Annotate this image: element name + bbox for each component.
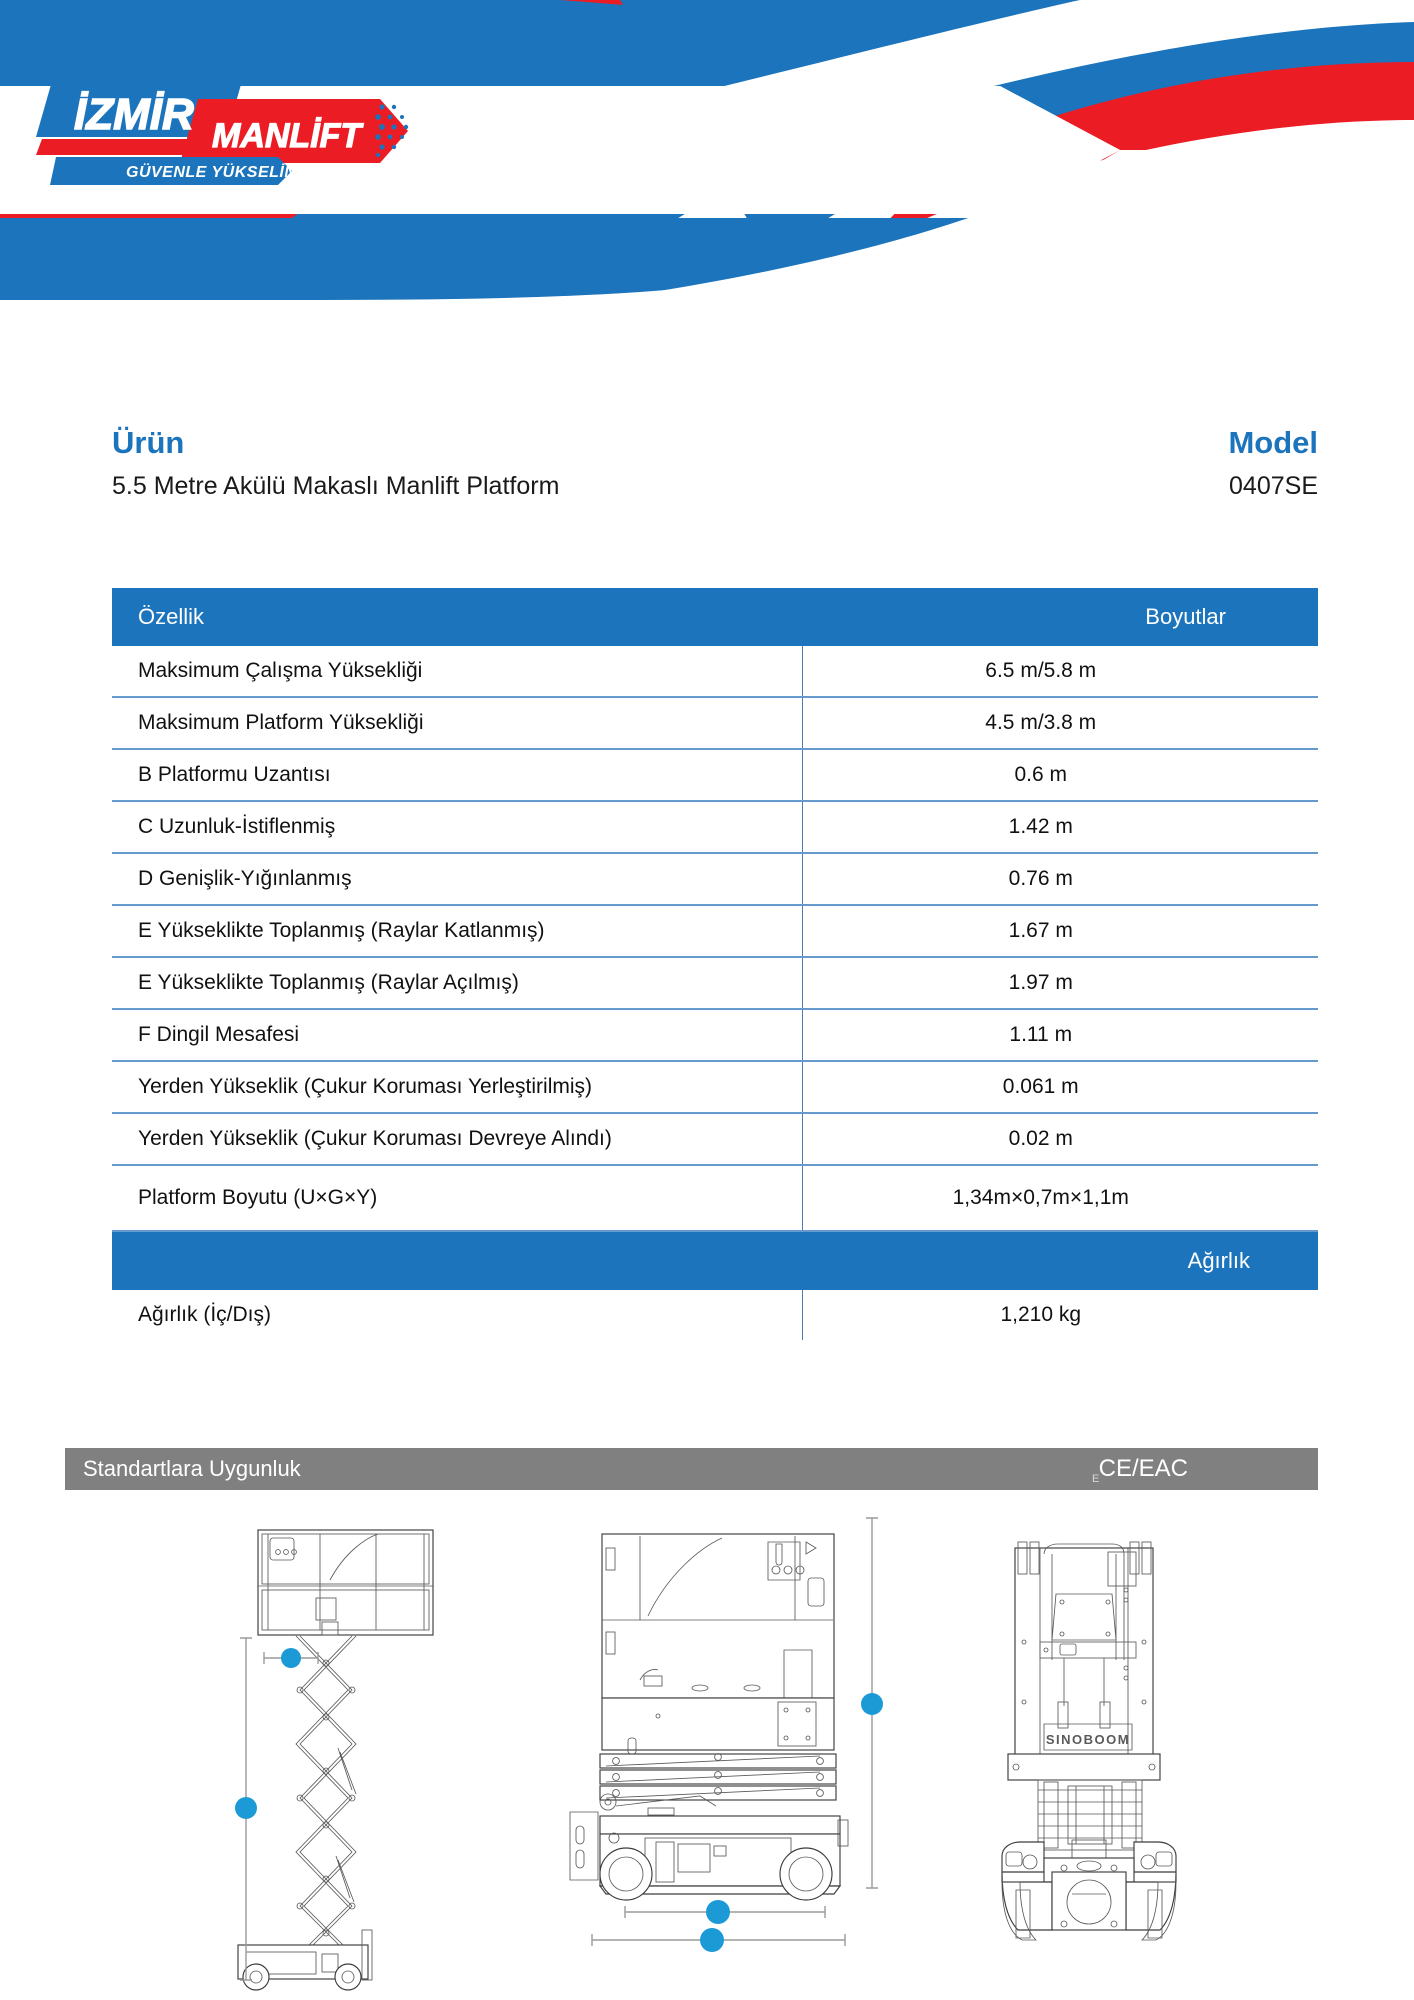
table-row: Platform Boyutu (U×G×Y) 1,34m×0,7m×1,1m — [112, 1165, 1318, 1231]
right-chassis — [1002, 1842, 1176, 1940]
left-chassis — [238, 1930, 372, 1990]
row-value: 0.6 m — [802, 749, 1318, 801]
drawing-center-stowed-side-view — [570, 1518, 883, 1952]
product-info: Ürün 5.5 Metre Akülü Makaslı Manlift Pla… — [112, 425, 559, 501]
table-row: Maksimum Çalışma Yüksekliği 6.5 m/5.8 m — [112, 646, 1318, 697]
table-body: Maksimum Çalışma Yüksekliği 6.5 m/5.8 m … — [112, 646, 1318, 1340]
center-chassis — [570, 1812, 848, 1900]
right-deck — [1008, 1754, 1160, 1780]
row-label: C Uzunluk-İstiflenmiş — [112, 801, 802, 853]
center-scissor-stack — [600, 1754, 836, 1815]
row-value: 1.97 m — [802, 957, 1318, 1009]
right-scissor-stack — [1038, 1780, 1142, 1862]
row-value: 1.67 m — [802, 905, 1318, 957]
row-label: E Yükseklikte Toplanmış (Raylar Açılmış) — [112, 957, 802, 1009]
center-platform-deck — [602, 1698, 834, 1754]
table-row: Yerden Yükseklik (Çukur Koruması Yerleşt… — [112, 1061, 1318, 1113]
row-label: D Genişlik-Yığınlanmış — [112, 853, 802, 905]
table-row: Yerden Yükseklik (Çukur Koruması Devreye… — [112, 1113, 1318, 1165]
row-value: 4.5 m/3.8 m — [802, 697, 1318, 749]
row-value: 0.76 m — [802, 853, 1318, 905]
left-platform-basket — [258, 1530, 433, 1635]
weight-header-row: Ağırlık — [112, 1231, 1318, 1290]
table-header-row: Özellik Boyutlar — [112, 588, 1318, 646]
left-scissor-arms — [296, 1636, 356, 1958]
row-value: 0.02 m — [802, 1113, 1318, 1165]
drawing-left-extended-side-view — [235, 1530, 433, 1990]
table-row: B Platformu Uzantısı 0.6 m — [112, 749, 1318, 801]
weight-row-value: 1,210 kg — [802, 1290, 1318, 1340]
dimension-dot — [235, 1797, 257, 1819]
row-value: 1.11 m — [802, 1009, 1318, 1061]
logo-tagline-text: GÜVENLE YÜKSELİN — [126, 162, 296, 181]
title-block: Ürün 5.5 Metre Akülü Makaslı Manlift Pla… — [112, 425, 1318, 501]
model-info: Model 0407SE — [1228, 425, 1318, 501]
right-guardrail-frame: SINOBOOM — [1015, 1542, 1153, 1778]
dimension-dot — [706, 1900, 730, 1924]
row-label: Maksimum Platform Yüksekliği — [112, 697, 802, 749]
center-dimension-lines — [592, 1900, 845, 1952]
logo-red-stripe — [36, 139, 224, 155]
weight-header-value: Ağırlık — [802, 1231, 1318, 1290]
center-guardrail — [602, 1534, 834, 1698]
row-label: Maksimum Çalışma Yüksekliği — [112, 646, 802, 697]
row-value: 6.5 m/5.8 m — [802, 646, 1318, 697]
row-label: Yerden Yükseklik (Çukur Koruması Yerleşt… — [112, 1061, 802, 1113]
standards-value: CE/EAC — [1099, 1455, 1318, 1483]
drawing-right-front-view: SINOBOOM — [1002, 1542, 1176, 1940]
standards-superscript: E — [1092, 1473, 1099, 1485]
dimension-dot — [281, 1648, 301, 1668]
dimension-dot — [861, 1693, 883, 1715]
table-row: Maksimum Platform Yüksekliği 4.5 m/3.8 m — [112, 697, 1318, 749]
standards-label: Standartlara Uygunluk — [65, 1456, 301, 1482]
weight-header-label — [112, 1231, 802, 1290]
logo-manlift-text: MANLİFT — [212, 117, 364, 155]
product-name: 5.5 Metre Akülü Makaslı Manlift Platform — [112, 471, 559, 501]
specification-table: Özellik Boyutlar Maksimum Çalışma Yüksek… — [112, 588, 1318, 1340]
left-dimension-lines — [235, 1638, 318, 1980]
weight-row: Ağırlık (İç/Dış) 1,210 kg — [112, 1290, 1318, 1340]
standards-row: Standartlara Uygunluk CE/EAC — [65, 1448, 1318, 1490]
dimension-dot — [700, 1928, 724, 1952]
technical-drawings: SINOBOOM — [0, 1490, 1414, 2000]
row-label: B Platformu Uzantısı — [112, 749, 802, 801]
logo-izmir-text: İZMİR — [74, 90, 194, 139]
machine-brand-mark: SINOBOOM — [1046, 1732, 1130, 1747]
table-row: E Yükseklikte Toplanmış (Raylar Açılmış)… — [112, 957, 1318, 1009]
row-value: 1.42 m — [802, 801, 1318, 853]
row-label: E Yükseklikte Toplanmış (Raylar Katlanmı… — [112, 905, 802, 957]
weight-row-label: Ağırlık (İç/Dış) — [112, 1290, 802, 1340]
row-label: F Dingil Mesafesi — [112, 1009, 802, 1061]
table-row: F Dingil Mesafesi 1.11 m — [112, 1009, 1318, 1061]
table-row: D Genişlik-Yığınlanmış 0.76 m — [112, 853, 1318, 905]
model-kicker: Model — [1228, 425, 1318, 461]
table-row: E Yükseklikte Toplanmış (Raylar Katlanmı… — [112, 905, 1318, 957]
product-kicker: Ürün — [112, 425, 559, 461]
row-value: 0.061 m — [802, 1061, 1318, 1113]
row-label: Yerden Yükseklik (Çukur Koruması Devreye… — [112, 1113, 802, 1165]
column-header-feature: Özellik — [112, 588, 802, 646]
center-right-dimension — [861, 1518, 883, 1888]
model-code: 0407SE — [1228, 471, 1318, 501]
row-label: Platform Boyutu (U×G×Y) — [112, 1165, 802, 1231]
table-row: C Uzunluk-İstiflenmiş 1.42 m — [112, 801, 1318, 853]
company-logo: İZMİR MANLİFT GÜVENLE YÜKSELİN — [30, 75, 450, 190]
column-header-dimensions: Boyutlar — [802, 588, 1318, 646]
row-value: 1,34m×0,7m×1,1m — [802, 1165, 1318, 1231]
